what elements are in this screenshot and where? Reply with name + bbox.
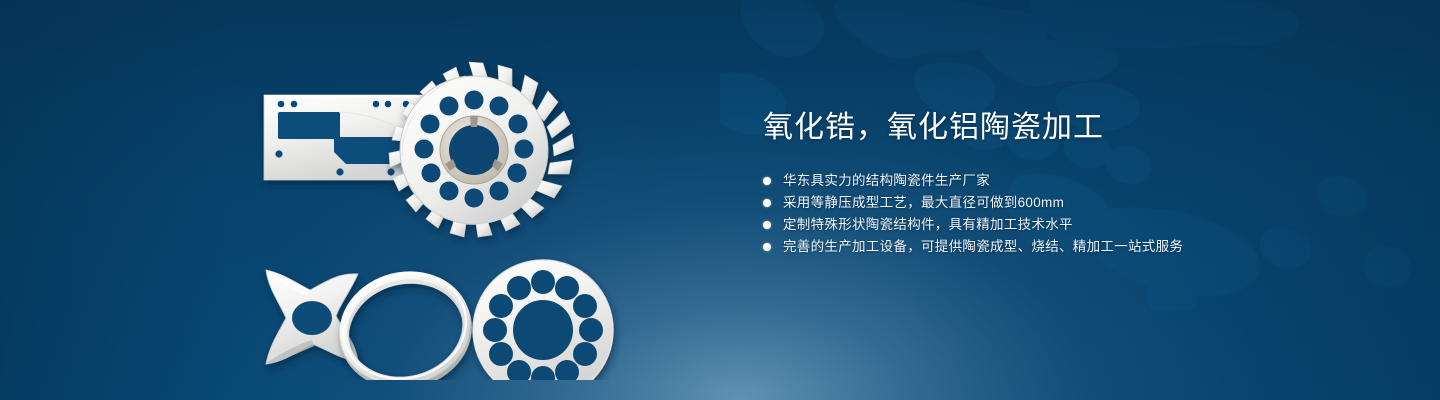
ceramic-processing-banner: 氧化锆，氧化铝陶瓷加工 华东具实力的结构陶瓷件生产厂家 采用等静压成型工艺，最大…: [0, 0, 1440, 400]
feature-text: 定制特殊形状陶瓷结构件，具有精加工技术水平: [783, 214, 1073, 236]
feature-text: 华东具实力的结构陶瓷件生产厂家: [783, 170, 990, 192]
perforated-ceramic-disc: [473, 260, 613, 380]
list-item: 定制特殊形状陶瓷结构件，具有精加工技术水平: [763, 214, 1383, 236]
page-title: 氧化锆，氧化铝陶瓷加工: [763, 108, 1383, 148]
feature-list: 华东具实力的结构陶瓷件生产厂家 采用等静压成型工艺，最大直径可做到600mm 定…: [763, 170, 1383, 258]
feature-text: 采用等静压成型工艺，最大直径可做到600mm: [783, 192, 1064, 214]
list-item: 采用等静压成型工艺，最大直径可做到600mm: [763, 192, 1383, 214]
ceramic-products-image: [230, 40, 700, 380]
list-item: 华东具实力的结构陶瓷件生产厂家: [763, 170, 1383, 192]
bullet-dot-icon: [763, 177, 771, 185]
list-item: 完善的生产加工设备，可提供陶瓷成型、烧结、精加工一站式服务: [763, 236, 1383, 258]
banner-copy: 氧化锆，氧化铝陶瓷加工 华东具实力的结构陶瓷件生产厂家 采用等静压成型工艺，最大…: [763, 108, 1383, 258]
bullet-dot-icon: [763, 221, 771, 229]
feature-text: 完善的生产加工设备，可提供陶瓷成型、烧结、精加工一站式服务: [783, 236, 1183, 258]
ceramic-impeller-disc: [389, 62, 574, 237]
bullet-dot-icon: [763, 243, 771, 251]
bullet-dot-icon: [763, 199, 771, 207]
